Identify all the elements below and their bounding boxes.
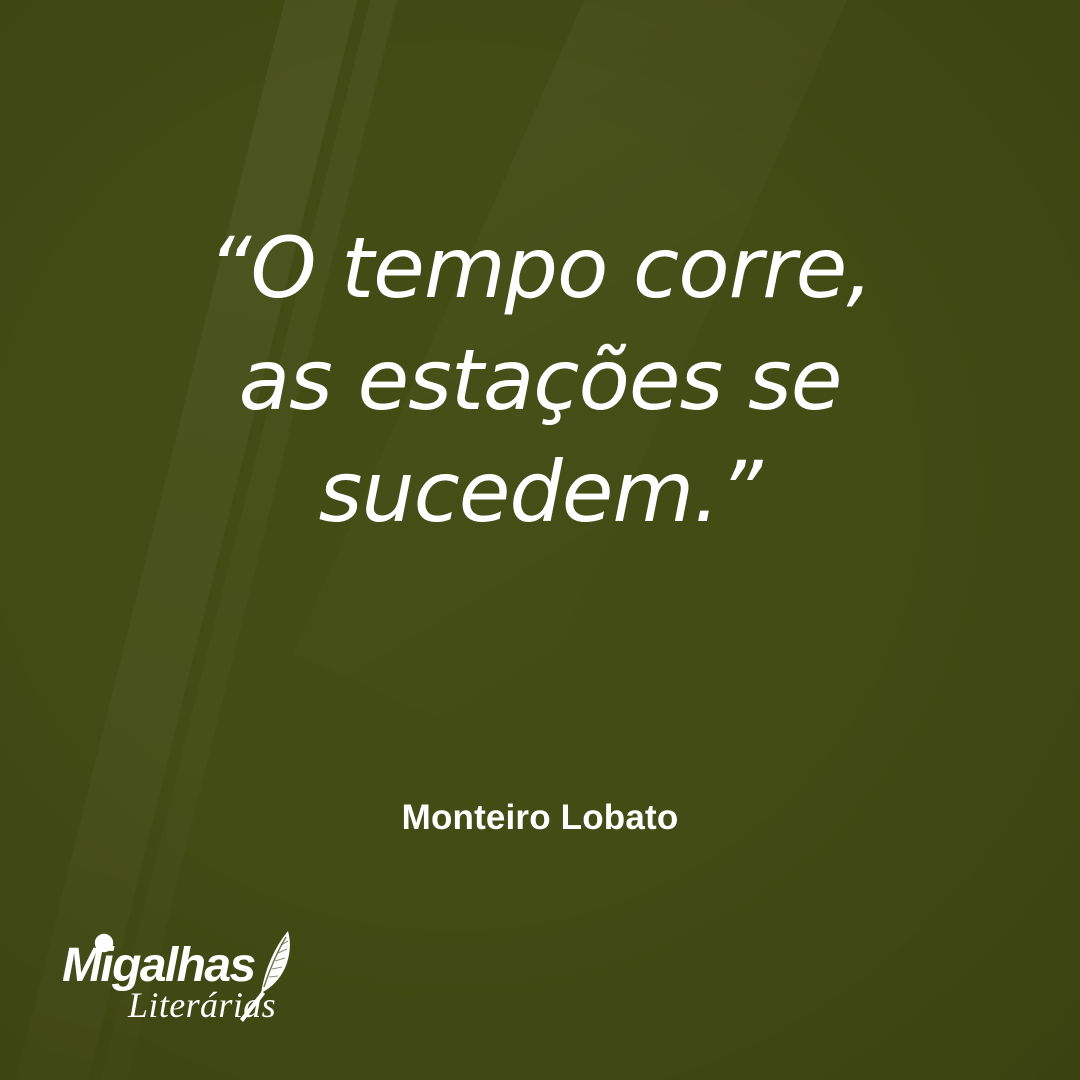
- quote-line-1: “O tempo corre,: [60, 212, 1020, 324]
- quote-line-2: as estações se: [60, 324, 1020, 436]
- author-name: Monteiro Lobato: [0, 798, 1080, 838]
- quote-card: “O tempo corre, as estações se sucedem.”…: [0, 0, 1080, 1080]
- quote-line-3: sucedem.”: [60, 436, 1020, 548]
- brand-logo[interactable]: Migalhas Literárias Migalhas: [62, 925, 322, 1025]
- logo-sub-wordmark: Literárias: [127, 985, 276, 1025]
- logo-wordmark: Migalhas: [62, 934, 255, 992]
- quote-block: “O tempo corre, as estações se sucedem.”…: [0, 212, 1080, 548]
- logo-i-dot: [95, 934, 113, 952]
